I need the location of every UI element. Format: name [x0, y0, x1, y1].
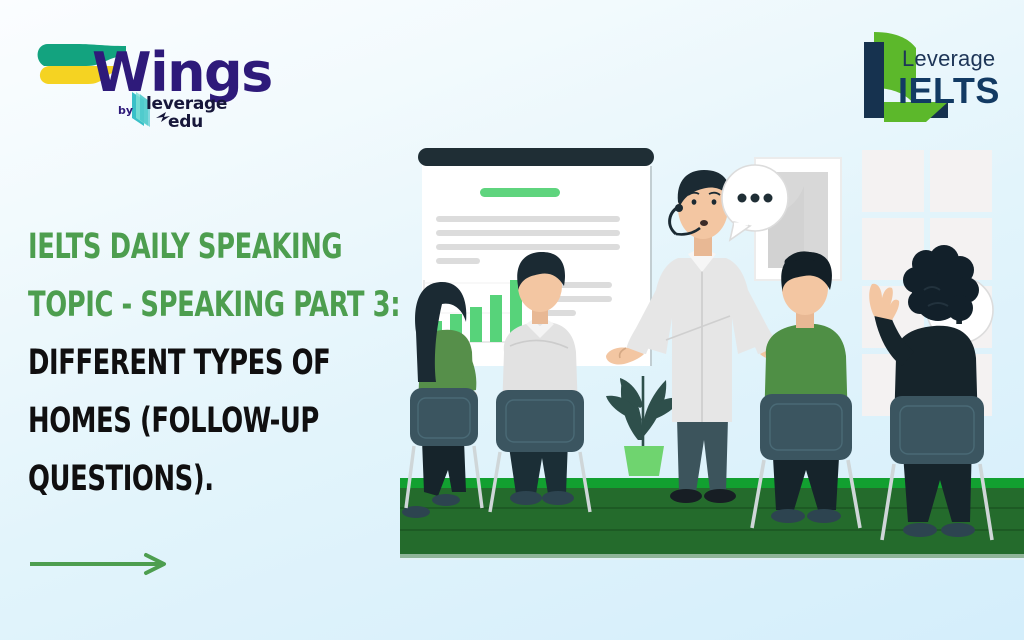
whiteboard-top-bar — [418, 148, 654, 166]
ielts-leverage-word: Leverage — [902, 46, 995, 72]
leverage-ielts-logo: Leverage IELTS — [852, 26, 1002, 130]
headline-line-2: TOPIC - SPEAKING PART 3: — [28, 276, 323, 334]
whiteboard-text-line — [436, 258, 480, 264]
presenter-mouth — [700, 220, 708, 226]
ielts-word: IELTS — [898, 70, 1000, 112]
chart-bar — [490, 295, 502, 342]
wings-wordmark: Wings — [92, 46, 272, 100]
whiteboard-text-line — [436, 244, 620, 250]
forward-arrow-icon — [28, 552, 178, 576]
headline-line-5: QUESTIONS). — [28, 450, 323, 508]
wings-sub-brand-line2: edu — [146, 114, 227, 132]
whiteboard-title-bar — [480, 188, 560, 197]
whiteboard-text-line — [436, 230, 620, 236]
whiteboard-text-line — [436, 216, 620, 222]
page-title: IELTS DAILY SPEAKING TOPIC - SPEAKING PA… — [28, 218, 388, 508]
presenter-eye — [712, 199, 717, 205]
potted-plant — [606, 376, 680, 476]
headline-line-3: DIFFERENT TYPES OF — [28, 334, 323, 392]
classroom-presentation-illustration: ? — [400, 140, 1024, 600]
presenter-shoe — [704, 489, 736, 503]
poster-canvas: Wings by leverage edu Leverage IELTS IEL… — [0, 0, 1024, 640]
presenter-eye — [692, 199, 697, 205]
presenter-shoe — [670, 489, 702, 503]
wings-by-label: by — [118, 104, 133, 117]
headline-line-1: IELTS DAILY SPEAKING — [28, 218, 323, 276]
wings-sub-brand: leverage edu — [146, 96, 227, 132]
presenter-headset-earpiece — [675, 204, 683, 212]
chart-bar — [470, 307, 482, 342]
headline-line-4: HOMES (FOLLOW-UP — [28, 392, 323, 450]
wings-logo: Wings by leverage edu — [30, 26, 250, 136]
plant-pot — [624, 446, 664, 476]
